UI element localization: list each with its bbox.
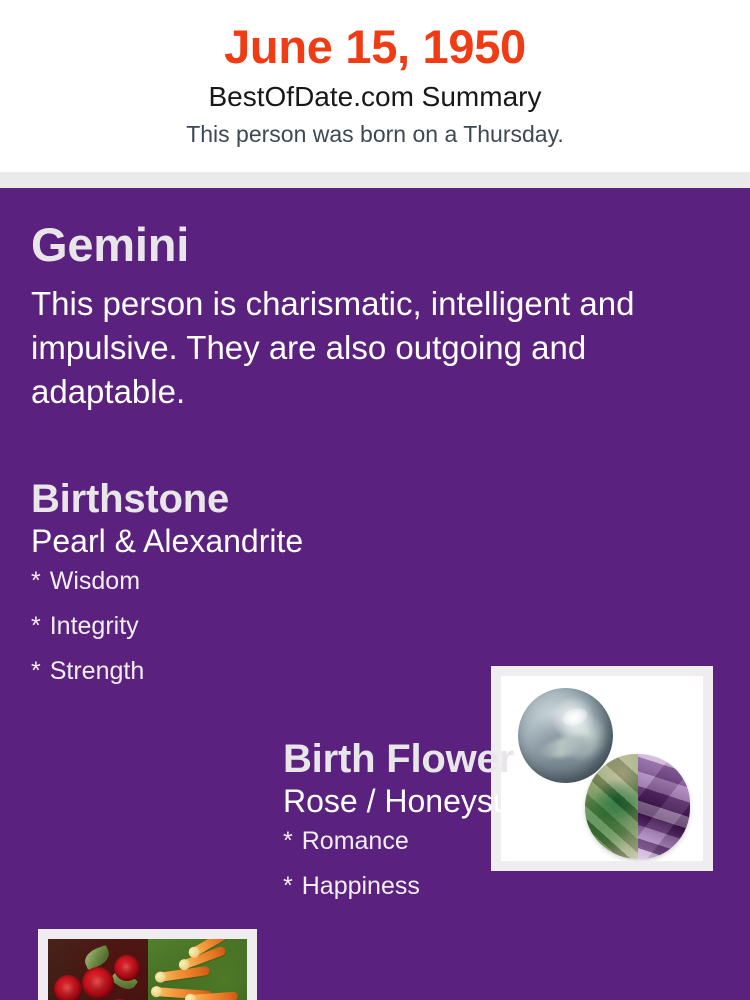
birth-flower-trait-list: *Romance *Happiness [283, 819, 723, 919]
roses-half [48, 939, 148, 1000]
birthstone-trait-list: *Wisdom *Integrity *Strength [31, 559, 471, 704]
list-item: *Integrity [31, 614, 471, 659]
list-item: *Wisdom [31, 569, 471, 614]
birthstone-section: Birthstone Pearl & Alexandrite *Wisdom *… [31, 478, 471, 704]
birth-flower-title: Birth Flower [283, 738, 723, 780]
content-panel: Gemini This person is charismatic, intel… [0, 188, 750, 1000]
bullet-asterisk-icon: * [31, 567, 41, 595]
honeysuckle-half [148, 939, 248, 1000]
header-divider [0, 172, 750, 188]
birth-flower-photo-card [38, 929, 257, 1000]
weekday-note: This person was born on a Thursday. [0, 113, 750, 147]
pearl-highlight [560, 705, 590, 728]
zodiac-section: Gemini This person is charismatic, intel… [31, 221, 711, 414]
list-item: *Romance [283, 829, 723, 874]
birthstone-trait-label: Integrity [50, 612, 139, 640]
infographic-page: June 15, 1950 BestOfDate.com Summary Thi… [0, 0, 750, 1000]
birthstone-trait-label: Wisdom [50, 567, 140, 595]
bullet-asterisk-icon: * [31, 612, 41, 640]
list-item: *Strength [31, 659, 471, 704]
birthstone-title: Birthstone [31, 478, 471, 520]
list-item: *Happiness [283, 874, 723, 919]
bullet-asterisk-icon: * [283, 827, 293, 855]
zodiac-description: This person is charismatic, intelligent … [31, 268, 696, 414]
zodiac-sign-title: Gemini [31, 221, 711, 268]
birthstone-trait-label: Strength [50, 657, 145, 685]
site-summary-label: BestOfDate.com Summary [0, 71, 750, 113]
birth-flower-names: Rose / Honeysuckle [283, 780, 723, 819]
bullet-asterisk-icon: * [283, 872, 293, 900]
birth-flower-photo [48, 939, 247, 1000]
header: June 15, 1950 BestOfDate.com Summary Thi… [0, 0, 750, 172]
birth-flower-trait-label: Happiness [302, 872, 420, 900]
bullet-asterisk-icon: * [31, 657, 41, 685]
birth-flower-section: Birth Flower Rose / Honeysuckle *Romance… [283, 738, 723, 919]
birthstone-names: Pearl & Alexandrite [31, 520, 471, 559]
page-title-date: June 15, 1950 [0, 0, 750, 71]
birth-flower-trait-label: Romance [302, 827, 409, 855]
